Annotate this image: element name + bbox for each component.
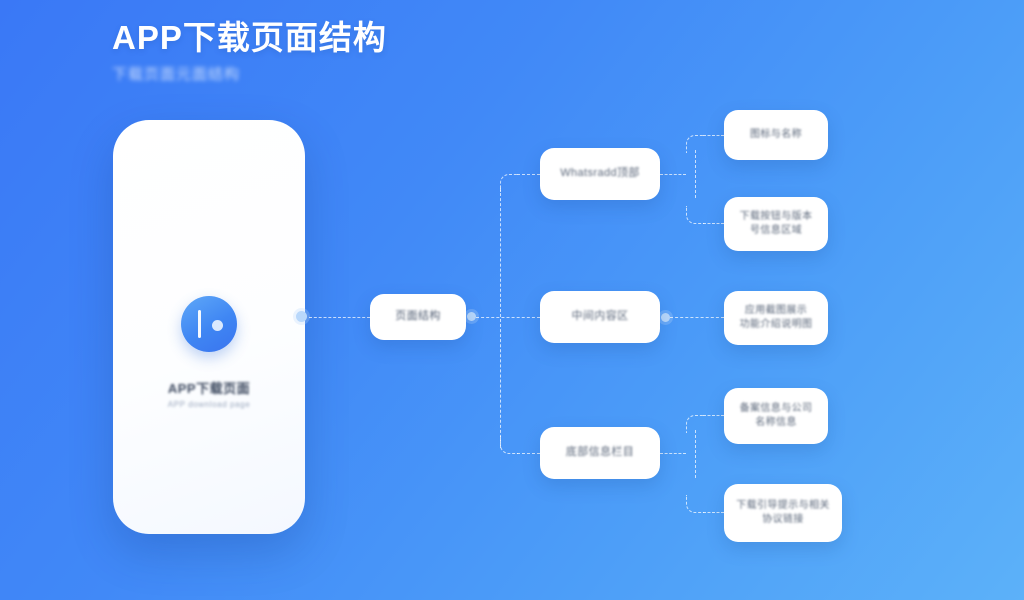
connector-elbow-bottom	[500, 436, 518, 454]
connector-dot-mid2	[661, 313, 670, 322]
app-logo-icon	[181, 296, 237, 352]
connector-mid3-to-leaf5	[703, 512, 724, 513]
connector-mid1-elbow-bottom	[686, 206, 704, 224]
connector-dot-root	[467, 312, 476, 321]
node-branch-1[interactable]: Whatsradd顶部	[540, 148, 660, 200]
page-subtitle: 下载页面元面结构	[112, 63, 240, 84]
node-root[interactable]: 页面结构	[370, 294, 466, 340]
phone-app-title: APP下载页面	[113, 378, 305, 397]
node-branch-2[interactable]: 中间内容区	[540, 291, 660, 343]
page-title: APP下载页面结构	[112, 18, 387, 58]
infographic-canvas: APP下载页面结构 下载页面元面结构 APP下载页面 APP download …	[0, 0, 1024, 600]
connector-mid1-trunk	[695, 150, 696, 198]
connector-mid3-trunk	[695, 430, 696, 478]
node-leaf-2-label: 下载按钮与版本号信息区域	[734, 210, 819, 239]
node-leaf-2[interactable]: 下载按钮与版本号信息区域	[724, 197, 828, 251]
node-branch-3-label: 底部信息栏目	[560, 445, 640, 461]
connector-elbow-top	[500, 174, 518, 192]
connector-mid1-to-leaf1	[703, 135, 724, 136]
node-branch-3[interactable]: 底部信息栏目	[540, 427, 660, 479]
node-leaf-1[interactable]: 图标与名称	[724, 110, 828, 160]
node-leaf-5-label: 下载引导提示与相关协议链接	[730, 499, 836, 528]
phone-mockup: APP下载页面 APP download page	[113, 120, 305, 534]
node-leaf-4[interactable]: 备案信息与公司名称信息	[724, 388, 828, 444]
node-branch-1-label: Whatsradd顶部	[554, 166, 646, 182]
connector-mid1-elbow-top	[686, 135, 704, 153]
app-logo-dot-icon	[212, 320, 223, 331]
connector-root-to-mid2	[476, 317, 540, 318]
connector-mid3-elbow-top	[686, 415, 704, 433]
connector-mid1-stub	[660, 174, 686, 175]
node-leaf-3-label: 应用截图展示功能介绍说明图	[734, 304, 819, 333]
connector-dot-phone	[296, 311, 307, 322]
node-root-label: 页面结构	[389, 309, 447, 325]
connector-trunk-to-mid1	[517, 174, 540, 175]
connector-trunk-vertical	[500, 188, 501, 448]
connector-mid3-stub	[660, 453, 686, 454]
app-logo-bar-icon	[198, 310, 201, 338]
connector-trunk-to-mid3	[517, 453, 540, 454]
connector-mid3-to-leaf4	[703, 415, 724, 416]
connector-mid3-elbow-bottom	[686, 495, 704, 513]
node-leaf-1-label: 图标与名称	[744, 128, 808, 143]
node-leaf-3[interactable]: 应用截图展示功能介绍说明图	[724, 291, 828, 345]
node-leaf-4-label: 备案信息与公司名称信息	[734, 402, 819, 431]
node-leaf-5[interactable]: 下载引导提示与相关协议链接	[724, 484, 842, 542]
connector-phone-to-root	[309, 317, 370, 318]
connector-mid1-to-leaf2	[703, 223, 724, 224]
node-branch-2-label: 中间内容区	[566, 309, 635, 325]
connector-mid2-to-leaf3	[670, 317, 724, 318]
phone-app-subtitle: APP download page	[113, 400, 305, 409]
